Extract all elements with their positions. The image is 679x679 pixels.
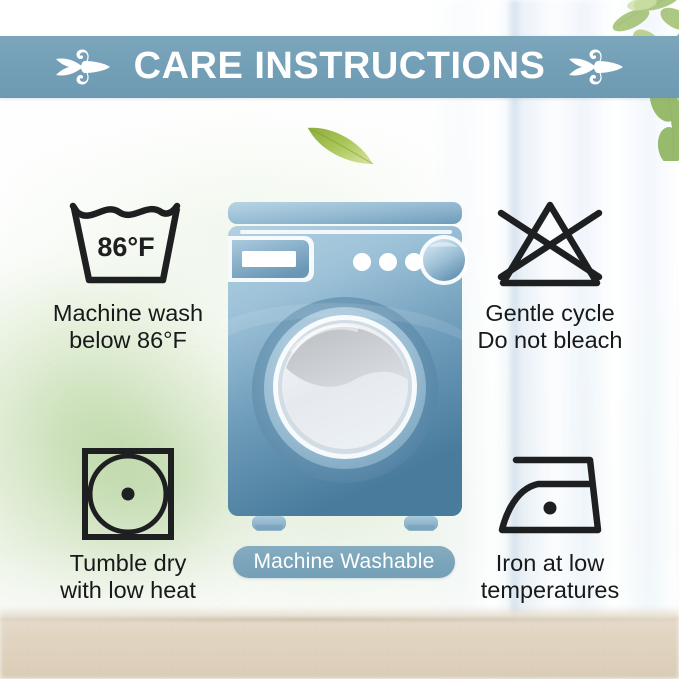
triangle-crossed-out-icon: [489, 197, 611, 291]
care-instructions-infographic: CARE INSTRUCTIONS: [0, 0, 679, 679]
background-wood-grain: [0, 617, 679, 679]
care-item-label: Tumble dry with low heat: [60, 550, 196, 605]
care-icon-wrapper: [80, 446, 176, 542]
tumble-dry-low-icon: [80, 446, 176, 542]
care-item-label: Machine wash below 86°F: [53, 300, 203, 355]
detergent-drawer: [228, 236, 314, 282]
fleur-de-lis-icon: [54, 47, 112, 87]
wash-tub-icon: 86°F: [67, 200, 189, 288]
washer-door: [252, 297, 438, 483]
care-icon-wrapper: [489, 196, 611, 292]
washer-buttons: [353, 253, 423, 271]
care-item-label: Iron at low temperatures: [481, 550, 619, 605]
green-leaf-icon: [303, 118, 379, 170]
care-item-label: Gentle cycle Do not bleach: [477, 300, 622, 355]
machine-washable-badge: Machine Washable: [233, 546, 455, 578]
washer-control-knob: [419, 235, 468, 285]
care-item-tumble-dry: Tumble dry with low heat: [8, 446, 248, 605]
washer-top-lid: [228, 202, 462, 224]
page-title: CARE INSTRUCTIONS: [134, 47, 546, 87]
wash-temperature-value: 86°F: [97, 232, 154, 262]
care-item-machine-wash: 86°F Machine wash below 86°F: [8, 196, 248, 355]
washer-feet: [252, 516, 438, 531]
background-wood-seam: [0, 618, 679, 621]
iron-one-dot-icon: [488, 450, 612, 538]
washing-machine-illustration: [222, 200, 468, 540]
fleur-de-lis-icon: [567, 47, 625, 87]
header-banner: CARE INSTRUCTIONS: [0, 36, 679, 98]
care-icon-wrapper: 86°F: [67, 196, 189, 292]
care-icon-wrapper: [488, 446, 612, 542]
